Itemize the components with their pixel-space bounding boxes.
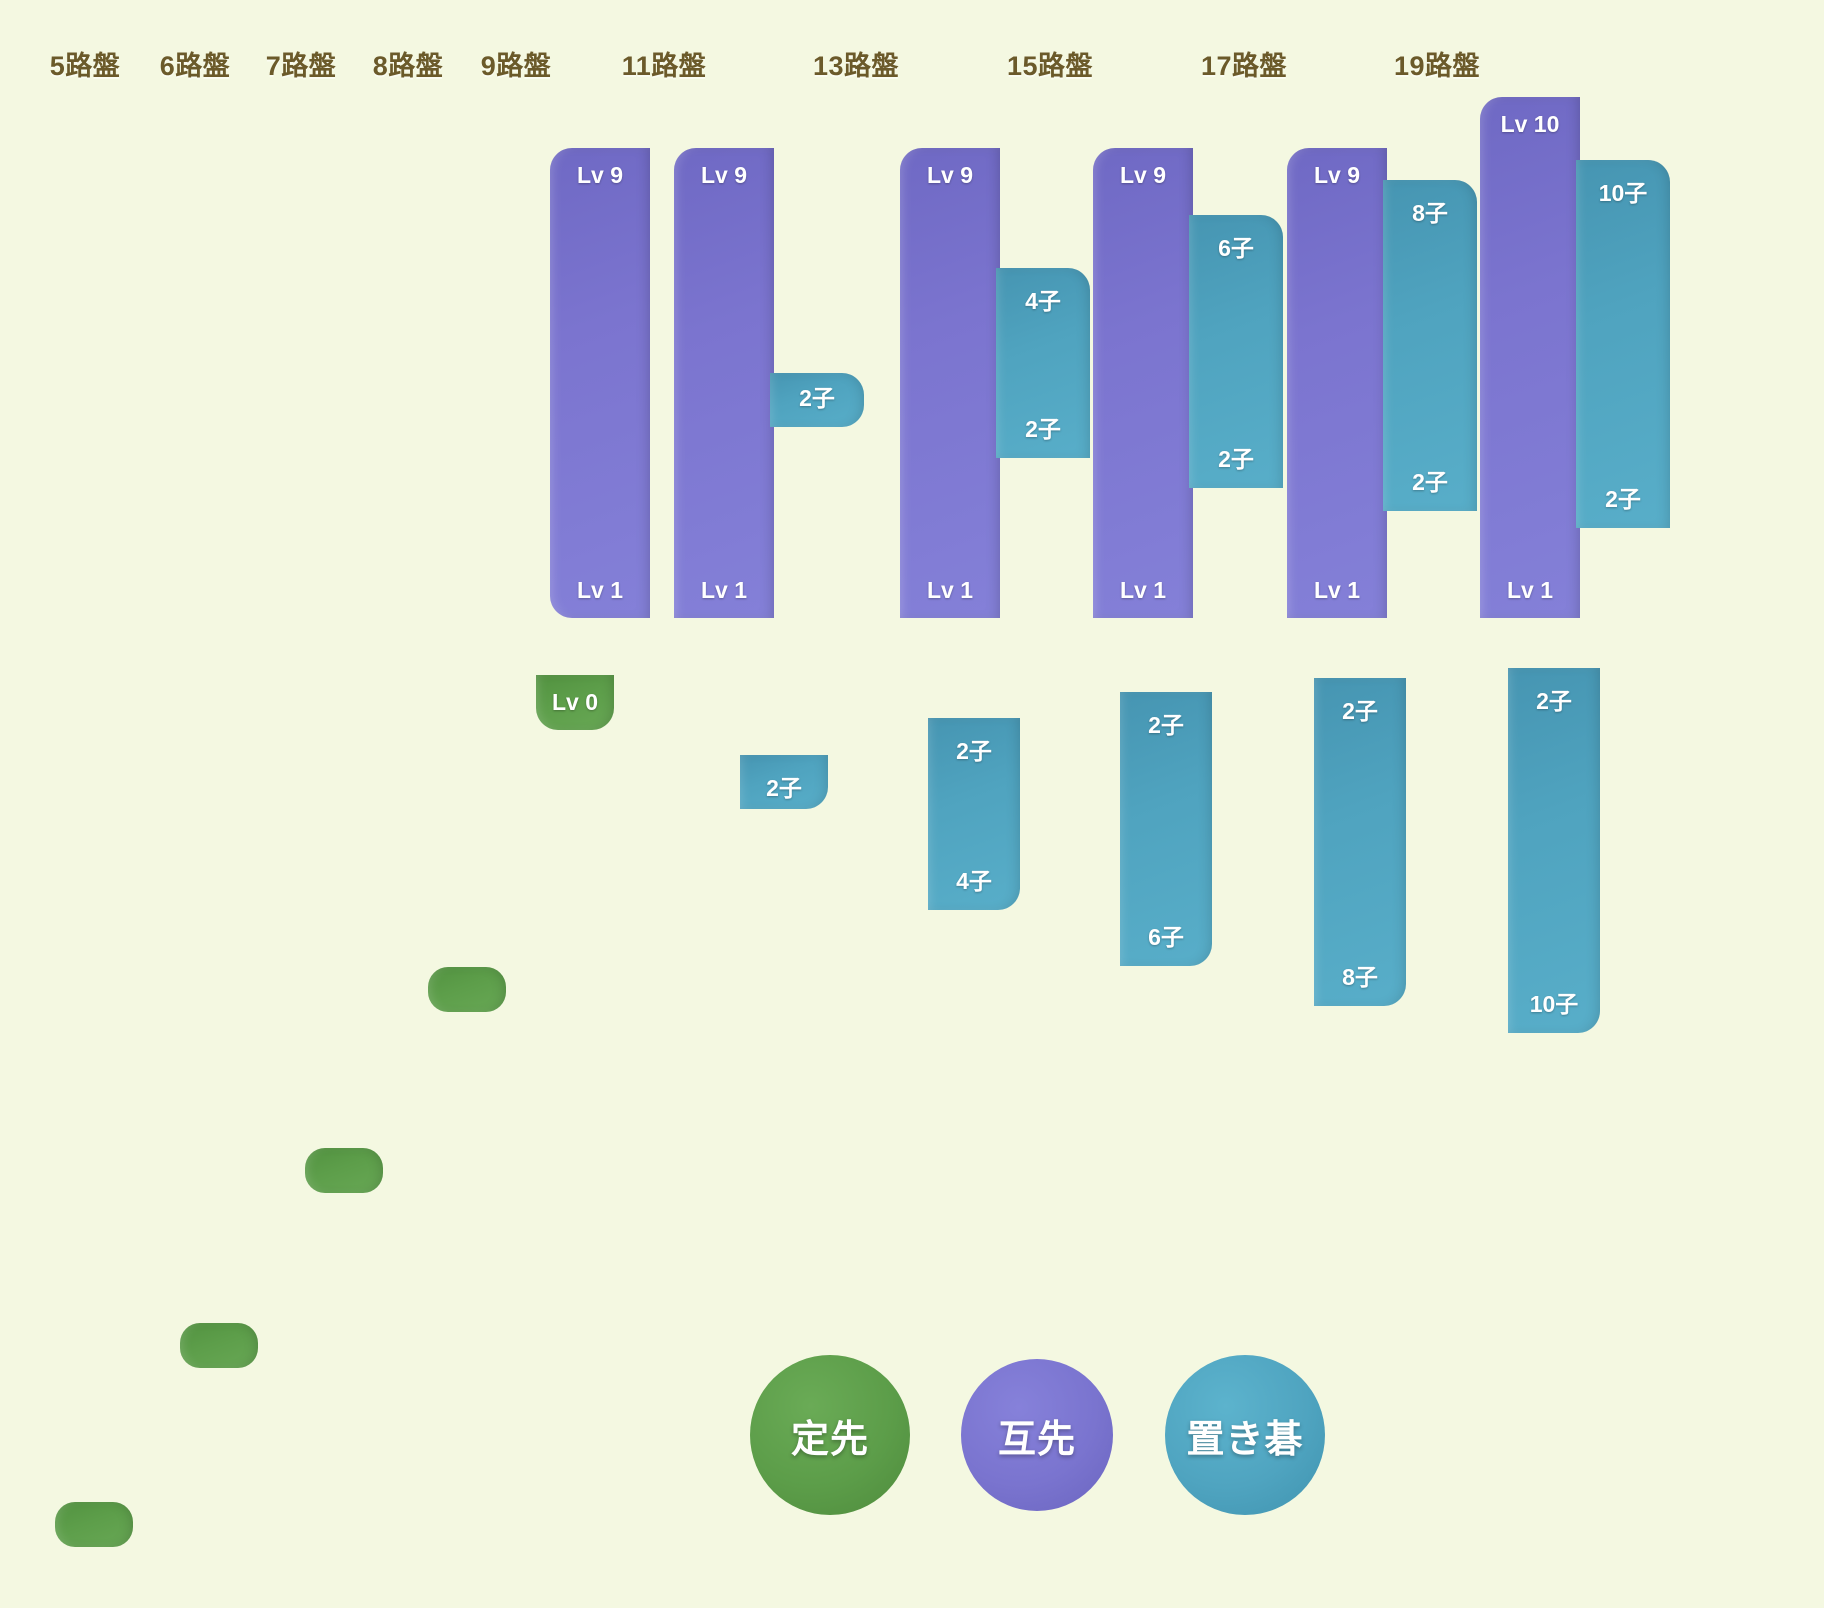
bar-bottom-label: 4子 [928,862,1020,896]
bar-bottom-label: 2子 [1576,480,1670,514]
bar-sente-7ro[interactable] [305,1148,383,1193]
bar-bottom-label: Lv 1 [1480,577,1580,604]
bar-even-19ro[interactable]: Lv 10Lv 1 [1480,97,1580,618]
bar-even-13ro[interactable]: Lv 9Lv 1 [900,148,1000,618]
bar-handi-11ro-lower[interactable]: 2子 [740,755,828,809]
bar-handi-15ro-lower[interactable]: 2子6子 [1120,692,1212,966]
bar-bottom-label: 6子 [1120,918,1212,952]
bar-handi-11ro-upper[interactable]: 2子 [770,373,864,427]
column-header-4: 8路盤 [373,44,444,83]
bar-top-label: 8子 [1383,194,1477,228]
bar-bottom-label: 2子 [1383,463,1477,497]
bar-top-label: 2子 [928,732,1020,766]
column-header-1: 5路盤 [50,44,121,83]
legend-label: 置き碁 [1186,1408,1303,1463]
bar-even-11ro[interactable]: Lv 9Lv 1 [674,148,774,618]
bar-handi-15ro-upper[interactable]: 6子2子 [1189,215,1283,488]
bar-bottom-label: Lv 1 [900,577,1000,604]
bar-top-label: 10子 [1576,174,1670,208]
column-header-3: 7路盤 [266,44,337,83]
column-header-6: 11路盤 [622,44,707,83]
bar-top-label: 2子 [1120,706,1212,740]
bar-top-label: 6子 [1189,229,1283,263]
bar-top-label: Lv 9 [1287,162,1387,189]
chart-canvas: 5路盤6路盤7路盤8路盤9路盤11路盤13路盤15路盤17路盤19路盤 Lv 9… [0,0,1824,1608]
legend-item-purple[interactable]: 互先 [961,1359,1113,1511]
legend-label: 互先 [998,1408,1076,1463]
column-header-10: 19路盤 [1394,44,1480,83]
bar-handi-13ro-lower[interactable]: 2子4子 [928,718,1020,910]
bar-sente-6ro[interactable] [180,1323,258,1368]
bar-top-label: Lv 9 [900,162,1000,189]
bar-top-label: Lv 9 [674,162,774,189]
bar-sente-9ro[interactable]: Lv 0 [536,675,614,730]
bar-bottom-label: 2子 [1189,440,1283,474]
bar-bottom-label: 2子 [996,410,1090,444]
column-header-8: 15路盤 [1007,44,1093,83]
bar-top-label: 2子 [1314,692,1406,726]
bar-even-15ro[interactable]: Lv 9Lv 1 [1093,148,1193,618]
bar-even-17ro[interactable]: Lv 9Lv 1 [1287,148,1387,618]
bar-bottom-label: Lv 1 [550,577,650,604]
bar-bottom-label: 2子 [770,379,864,413]
bar-top-label: Lv 9 [1093,162,1193,189]
bar-bottom-label: Lv 1 [1287,577,1387,604]
column-header-9: 17路盤 [1201,44,1287,83]
bar-handi-17ro-upper[interactable]: 8子2子 [1383,180,1477,511]
bar-bottom-label: 8子 [1314,958,1406,992]
bar-handi-13ro-upper[interactable]: 4子2子 [996,268,1090,458]
bar-bottom-label: Lv 1 [674,577,774,604]
column-header-7: 13路盤 [813,44,899,83]
bar-top-label: Lv 10 [1480,111,1580,138]
bar-top-label: Lv 0 [536,689,614,716]
column-header-2: 6路盤 [160,44,231,83]
bar-top-label: 4子 [996,282,1090,316]
bar-handi-17ro-lower[interactable]: 2子8子 [1314,678,1406,1006]
column-header-5: 9路盤 [481,44,552,83]
bar-top-label: Lv 9 [550,162,650,189]
legend-item-green[interactable]: 定先 [750,1355,910,1515]
bar-bottom-label: Lv 1 [1093,577,1193,604]
legend-item-teal[interactable]: 置き碁 [1165,1355,1325,1515]
bar-top-label: 2子 [740,769,828,803]
bar-handi-19ro-upper[interactable]: 10子2子 [1576,160,1670,528]
bar-handi-19ro-lower[interactable]: 2子10子 [1508,668,1600,1033]
bar-bottom-label: 10子 [1508,985,1600,1019]
bar-sente-5ro[interactable] [55,1502,133,1547]
bar-even-9ro[interactable]: Lv 9Lv 1 [550,148,650,618]
legend-label: 定先 [791,1408,869,1463]
bar-sente-8ro[interactable] [428,967,506,1012]
bar-top-label: 2子 [1508,682,1600,716]
